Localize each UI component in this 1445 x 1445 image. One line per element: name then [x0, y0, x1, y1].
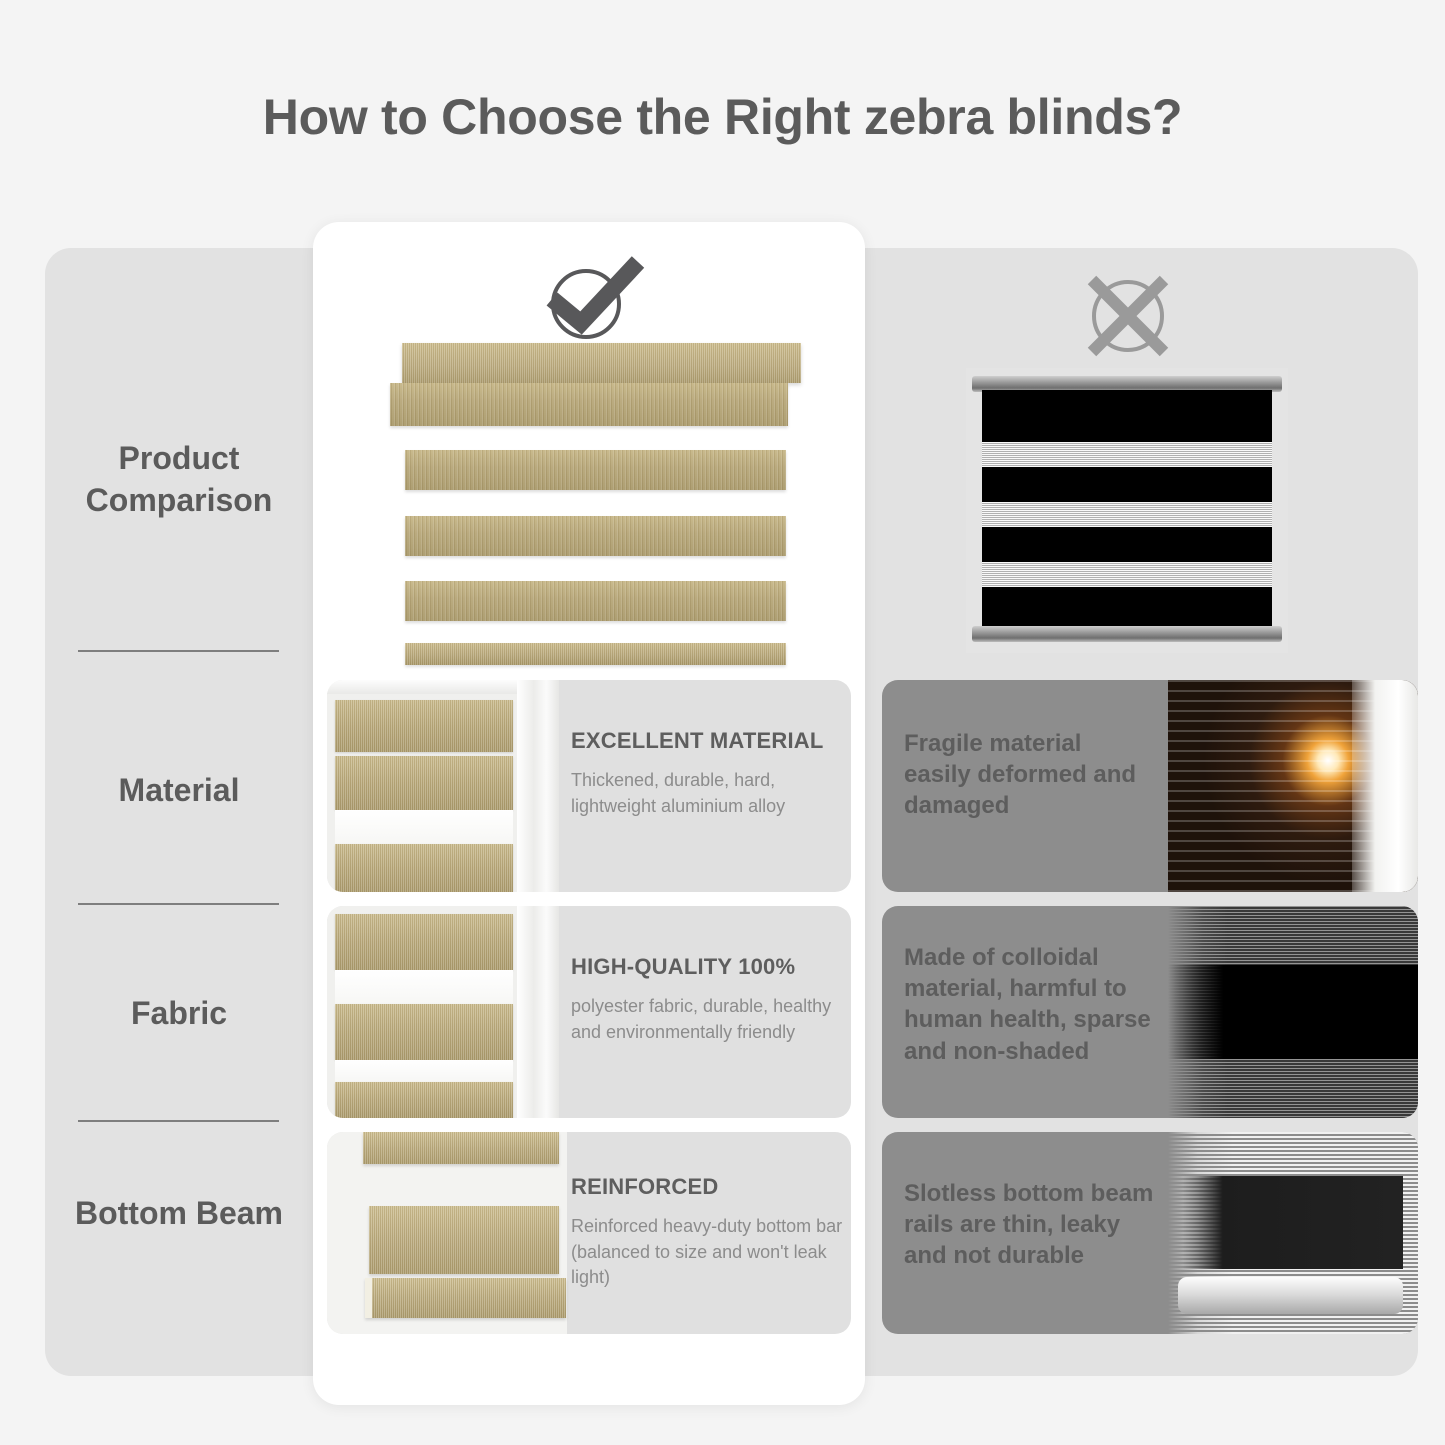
row-label-bottom-beam: Bottom Beam [45, 1193, 313, 1235]
blind-slat [369, 1206, 559, 1274]
blind-headrail [402, 343, 801, 383]
blind-slat [405, 516, 786, 556]
blind-sheer-band [982, 502, 1272, 527]
row-divider [78, 1120, 279, 1122]
good-feature-card-material: EXCELLENT MATERIAL Thickened, durable, h… [327, 680, 851, 892]
blind-slat [405, 581, 786, 621]
bad-feature-card-bottom-beam: Slotless bottom beam rails are thin, lea… [882, 1132, 1418, 1334]
blind-slat [335, 756, 513, 810]
blind-sheer-band [982, 442, 1272, 467]
blind-slat [405, 450, 786, 490]
row-label-fabric: Fabric [45, 993, 313, 1035]
feature-heading: EXCELLENT MATERIAL [571, 728, 839, 754]
row-label-column: Product Comparison Material Fabric Botto… [45, 248, 313, 1376]
blind-fabric [982, 390, 1272, 628]
bad-feature-text-fabric: Made of colloidal material, harmful to h… [904, 942, 1154, 1067]
good-feature-card-fabric: HIGH-QUALITY 100% polyester fabric, dura… [327, 906, 851, 1118]
hero-image-beige-zebra-blind [383, 343, 800, 665]
good-feature-text-material: EXCELLENT MATERIAL Thickened, durable, h… [571, 728, 839, 819]
check-circle-icon [534, 252, 654, 344]
good-feature-image-bottom-beam [327, 1132, 567, 1334]
blind-slat [335, 914, 513, 970]
blind-slat [335, 700, 513, 752]
bad-feature-image-sun-leak [1168, 680, 1418, 892]
cross-circle-icon [1080, 268, 1176, 364]
row-label-product-comparison: Product Comparison [45, 438, 313, 521]
bad-feature-text-bottom-beam: Slotless bottom beam rails are thin, lea… [904, 1178, 1154, 1272]
bad-feature-text-material: Fragile material easily deformed and dam… [904, 728, 1154, 822]
good-feature-card-bottom-beam: REINFORCED Reinforced heavy-duty bottom … [327, 1132, 851, 1334]
blind-sheer-band [335, 970, 513, 1004]
blind-sheer-band [335, 1060, 513, 1082]
dark-fabric-panel [1183, 1176, 1403, 1269]
blind-sheer-band [335, 810, 513, 844]
blind-sheer-band [982, 562, 1272, 587]
row-label-material: Material [45, 770, 313, 812]
row-divider [78, 903, 279, 905]
bad-feature-card-material: Fragile material easily deformed and dam… [882, 680, 1418, 892]
hero-image-black-zebra-blind [966, 368, 1288, 653]
row-divider [78, 650, 279, 652]
feature-heading: HIGH-QUALITY 100% [571, 954, 839, 980]
blind-slat [335, 844, 513, 892]
thin-bottom-rail [1178, 1277, 1403, 1313]
blind-slat [335, 1004, 513, 1060]
blind-bottom-bar [405, 643, 786, 665]
bad-feature-image-slotless-rail [1168, 1132, 1418, 1334]
dark-fabric-band [1168, 965, 1418, 1058]
good-feature-text-fabric: HIGH-QUALITY 100% polyester fabric, dura… [571, 954, 839, 1045]
blind-slat [363, 1132, 559, 1164]
blind-slat [390, 383, 788, 426]
blind-slat [335, 1082, 513, 1118]
feature-body: Thickened, durable, hard, lightweight al… [571, 768, 839, 819]
feature-body: polyester fabric, durable, healthy and e… [571, 994, 839, 1045]
good-feature-image-material [327, 680, 559, 892]
feature-body: Reinforced heavy-duty bottom bar (balanc… [571, 1214, 851, 1291]
blind-bottom-beam [365, 1278, 566, 1318]
good-feature-text-bottom-beam: REINFORCED Reinforced heavy-duty bottom … [571, 1174, 851, 1291]
good-feature-image-fabric [327, 906, 559, 1118]
feature-heading: REINFORCED [571, 1174, 851, 1200]
page-title: How to Choose the Right zebra blinds? [0, 88, 1445, 146]
blind-bottom-rail [972, 626, 1282, 642]
window-frame-right [517, 680, 559, 892]
bad-feature-image-sheer-fabric [1168, 906, 1418, 1118]
bad-feature-card-fabric: Made of colloidal material, harmful to h… [882, 906, 1418, 1118]
window-frame-right [517, 906, 559, 1118]
